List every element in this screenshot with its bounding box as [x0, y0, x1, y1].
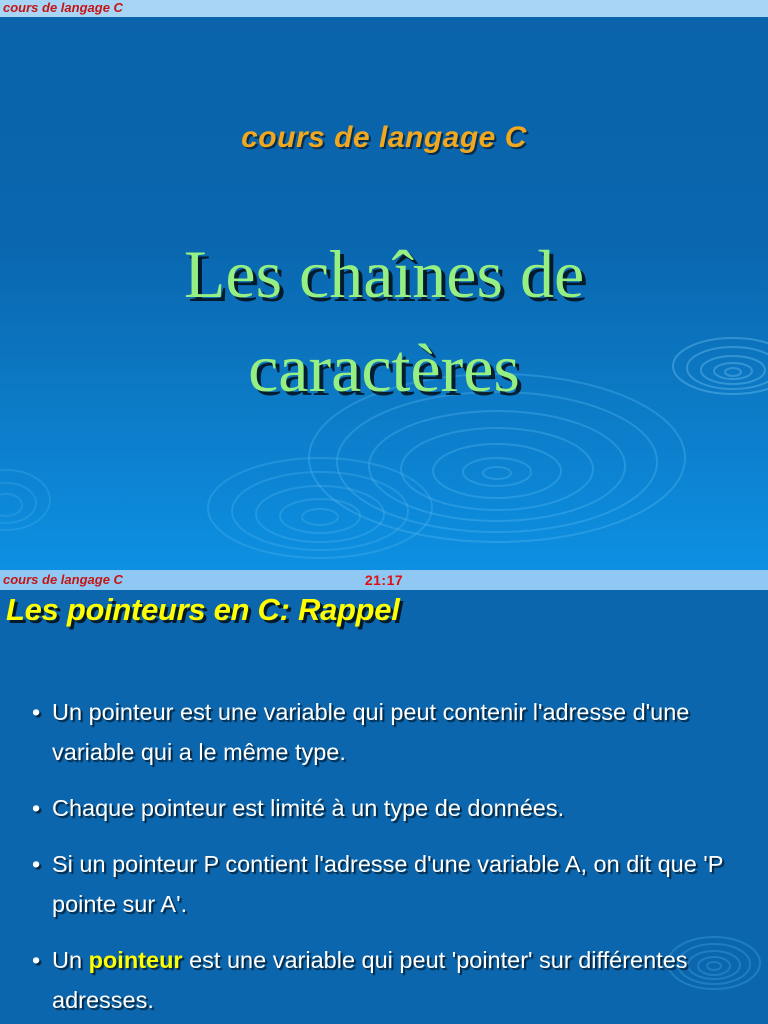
bullet-text: Chaque pointeur est limité à un type de … [52, 795, 564, 821]
slide1-header-bar: cours de langage C [0, 0, 768, 17]
slide1-header-label: cours de langage C [3, 0, 123, 16]
slide1-main-title: Les chaînes de caractères [64, 227, 704, 415]
presentation-page: cours de langage C [0, 0, 768, 1024]
list-item: • Un pointeur est une variable qui peut … [28, 692, 758, 772]
bullet-highlight: pointeur [89, 947, 183, 973]
bullet-text: Un [52, 947, 89, 973]
bullet-text: Un pointeur est une variable qui peut co… [52, 699, 689, 765]
slide2-heading: Les pointeurs en C: Rappel [6, 592, 400, 628]
list-item: • Un pointeur est une variable qui peut … [28, 940, 758, 1020]
bullet-marker: • [32, 788, 40, 828]
slide-pointers-page: Les pointeurs en C: Rappel • Un pointeur… [0, 590, 768, 1024]
bullet-marker: • [32, 692, 40, 732]
bullet-marker: • [32, 844, 40, 884]
slide1-footer-bar: cours de langage C 21:17 [0, 570, 768, 590]
bullet-text: Si un pointeur P contient l'adresse d'un… [52, 851, 723, 917]
list-item: • Si un pointeur P contient l'adresse d'… [28, 844, 758, 924]
slide1-footer-time: 21:17 [0, 570, 768, 590]
bullet-marker: • [32, 940, 40, 980]
slide1-subtitle: cours de langage C [0, 121, 768, 155]
slide-title-page: cours de langage C [0, 0, 768, 591]
slide1-body: cours de langage C Les chaînes de caract… [0, 17, 768, 570]
list-item: •Chaque pointeur est limité à un type de… [28, 788, 758, 828]
slide2-bullet-list: • Un pointeur est une variable qui peut … [28, 692, 758, 1024]
